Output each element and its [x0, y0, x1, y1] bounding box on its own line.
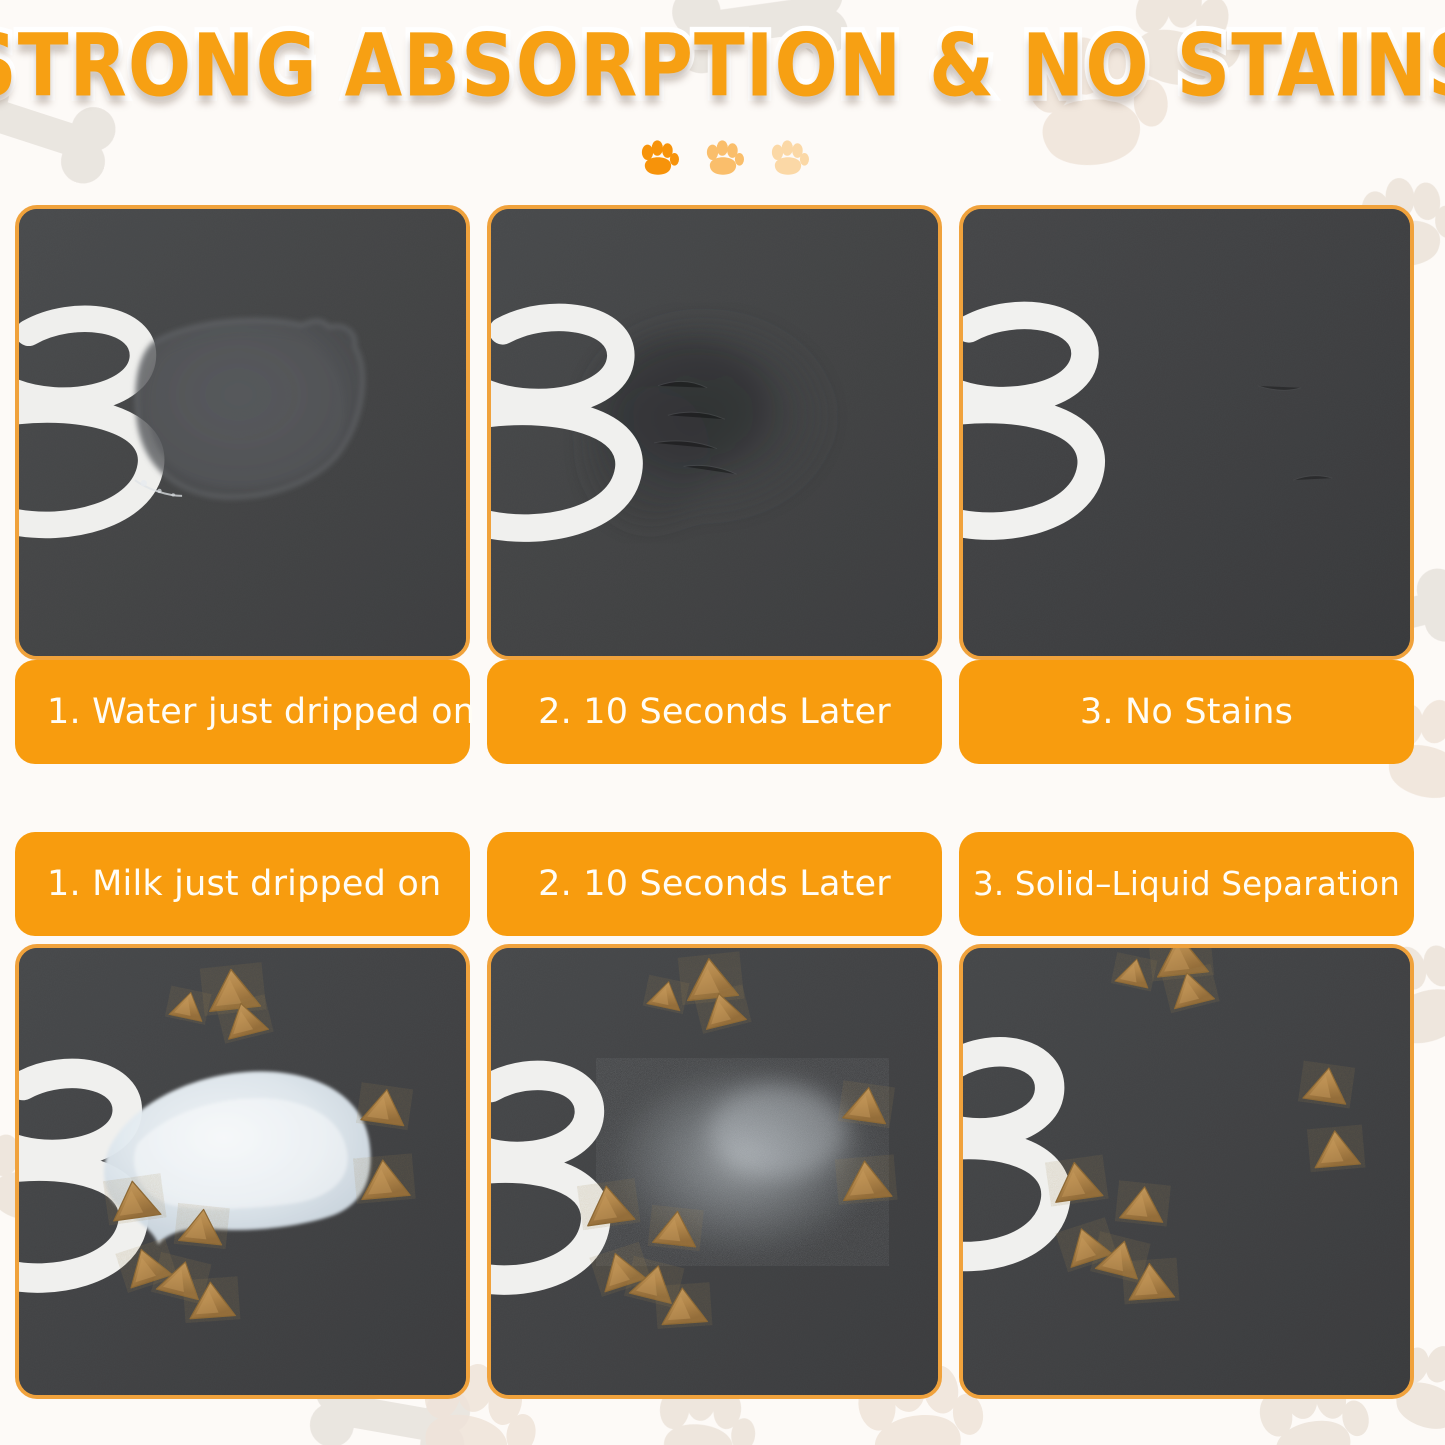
label-text: 2. 10 Seconds Later [538, 864, 891, 904]
photo-water-step-1 [15, 205, 470, 660]
label-text: 3. Solid–Liquid Separation [973, 865, 1400, 903]
cell-milk-label-2: 2. 10 Seconds Later [487, 832, 957, 944]
cell-water-label-1: 1. Water just dripped on [15, 660, 485, 772]
row-spacer [959, 772, 1429, 832]
row-spacer [487, 772, 957, 832]
label-water-step-2: 2. 10 Seconds Later [487, 660, 942, 764]
label-water-step-3: 3. No Stains [959, 660, 1414, 764]
cell-water-step-2 [487, 205, 957, 660]
cell-milk-step-1 [15, 944, 485, 1399]
paw-print-icon [767, 139, 809, 181]
label-text: 1. Water just dripped on [47, 692, 475, 732]
photo-milk-step-1 [15, 944, 470, 1399]
label-water-step-1: 1. Water just dripped on [15, 660, 470, 764]
photo-milk-step-3 [959, 944, 1414, 1399]
photo-water-step-2 [487, 205, 942, 660]
cell-water-label-3: 3. No Stains [959, 660, 1429, 772]
label-milk-step-1: 1. Milk just dripped on [15, 832, 470, 936]
cell-milk-step-2 [487, 944, 957, 1399]
photo-water-step-3 [959, 205, 1414, 660]
cell-water-step-3 [959, 205, 1429, 660]
label-text: 1. Milk just dripped on [47, 864, 441, 904]
header-title-container: STRONG ABSORPTION & NO STAINS [0, 18, 1445, 114]
paw-divider [0, 132, 1445, 188]
paw-print-icon [702, 139, 744, 181]
label-milk-step-3: 3. Solid–Liquid Separation [959, 832, 1414, 936]
comparison-grid: 1. Water just dripped on 2. 10 Seconds L… [15, 205, 1430, 1430]
page-title: STRONG ABSORPTION & NO STAINS [0, 16, 1445, 116]
cell-milk-label-1: 1. Milk just dripped on [15, 832, 485, 944]
paw-print-icon [637, 139, 679, 181]
row-spacer [15, 772, 485, 832]
label-text: 3. No Stains [1080, 692, 1293, 732]
cell-water-label-2: 2. 10 Seconds Later [487, 660, 957, 772]
cell-milk-label-3: 3. Solid–Liquid Separation [959, 832, 1429, 944]
label-text: 2. 10 Seconds Later [538, 692, 891, 732]
photo-milk-step-2 [487, 944, 942, 1399]
cell-water-step-1 [15, 205, 485, 660]
label-milk-step-2: 2. 10 Seconds Later [487, 832, 942, 936]
cell-milk-step-3 [959, 944, 1429, 1399]
